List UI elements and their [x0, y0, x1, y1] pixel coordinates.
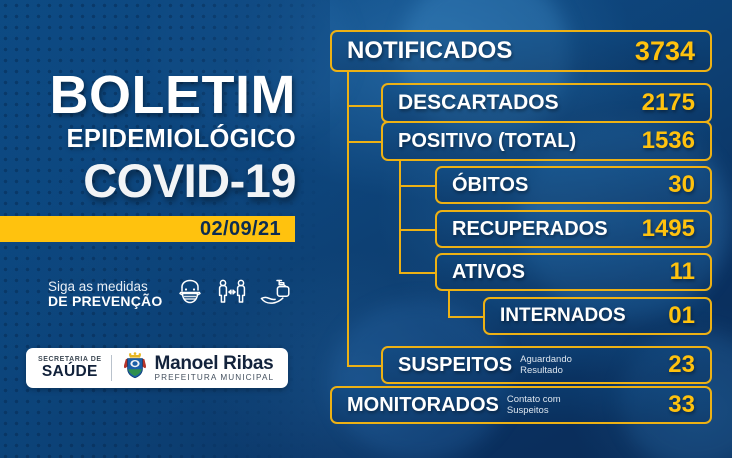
stat-value-recuperados: 1495	[642, 215, 695, 243]
statistics-panel: NOTIFICADOS 3734 DESCARTADOS 2175 POSITI…	[0, 0, 732, 458]
stat-sublabel-monitorados: Contato com Suspeitos	[507, 394, 561, 416]
tree-connector-branch-internados	[448, 316, 483, 318]
stat-value-notificados: 3734	[635, 36, 695, 67]
stat-row-monitorados[interactable]: MONITORADOS Contato com Suspeitos 33	[330, 386, 712, 424]
stat-label-internados: INTERNADOS	[500, 305, 626, 327]
tree-connector-trunk-ativos	[448, 291, 450, 318]
stat-value-ativos: 11	[670, 258, 695, 286]
stat-value-obitos: 30	[668, 171, 695, 199]
stat-value-suspeitos: 23	[668, 351, 695, 379]
tree-connector-branch-suspeitos	[347, 365, 381, 367]
tree-connector-trunk-positivo	[399, 160, 401, 274]
stat-row-ativos[interactable]: ATIVOS 11	[435, 253, 712, 291]
stat-value-positivo: 1536	[642, 127, 695, 155]
stat-label-suspeitos: SUSPEITOS	[398, 354, 512, 377]
stat-label-obitos: ÓBITOS	[452, 174, 528, 197]
stat-label-recuperados: RECUPERADOS	[452, 218, 608, 241]
covid-bulletin-poster: BOLETIM EPIDEMIOLÓGICO COVID-19 02/09/21…	[0, 0, 732, 458]
tree-connector-branch-positivo	[347, 141, 381, 143]
tree-connector-trunk-main	[347, 72, 349, 367]
tree-connector-branch-descartados	[347, 105, 381, 107]
stat-row-descartados[interactable]: DESCARTADOS 2175	[381, 83, 712, 123]
tree-connector-branch-obitos	[399, 185, 435, 187]
stat-label-ativos: ATIVOS	[452, 261, 525, 284]
stat-value-internados: 01	[668, 302, 695, 330]
stat-row-notificados[interactable]: NOTIFICADOS 3734	[330, 30, 712, 72]
stat-label-descartados: DESCARTADOS	[398, 91, 559, 115]
stat-sublabel-suspeitos: Aguardando Resultado	[520, 354, 572, 376]
stat-row-positivo[interactable]: POSITIVO (TOTAL) 1536	[381, 121, 712, 161]
stat-label-monitorados: MONITORADOS	[347, 394, 499, 417]
stat-row-internados[interactable]: INTERNADOS 01	[483, 297, 712, 335]
tree-connector-branch-recuperados	[399, 229, 435, 231]
stat-value-descartados: 2175	[642, 89, 695, 117]
tree-connector-branch-ativos	[399, 272, 435, 274]
stat-row-suspeitos[interactable]: SUSPEITOS Aguardando Resultado 23	[381, 346, 712, 384]
stat-value-monitorados: 33	[668, 391, 695, 419]
stat-row-recuperados[interactable]: RECUPERADOS 1495	[435, 210, 712, 248]
stat-label-notificados: NOTIFICADOS	[347, 37, 512, 65]
stat-row-obitos[interactable]: ÓBITOS 30	[435, 166, 712, 204]
stat-label-positivo: POSITIVO (TOTAL)	[398, 130, 576, 153]
